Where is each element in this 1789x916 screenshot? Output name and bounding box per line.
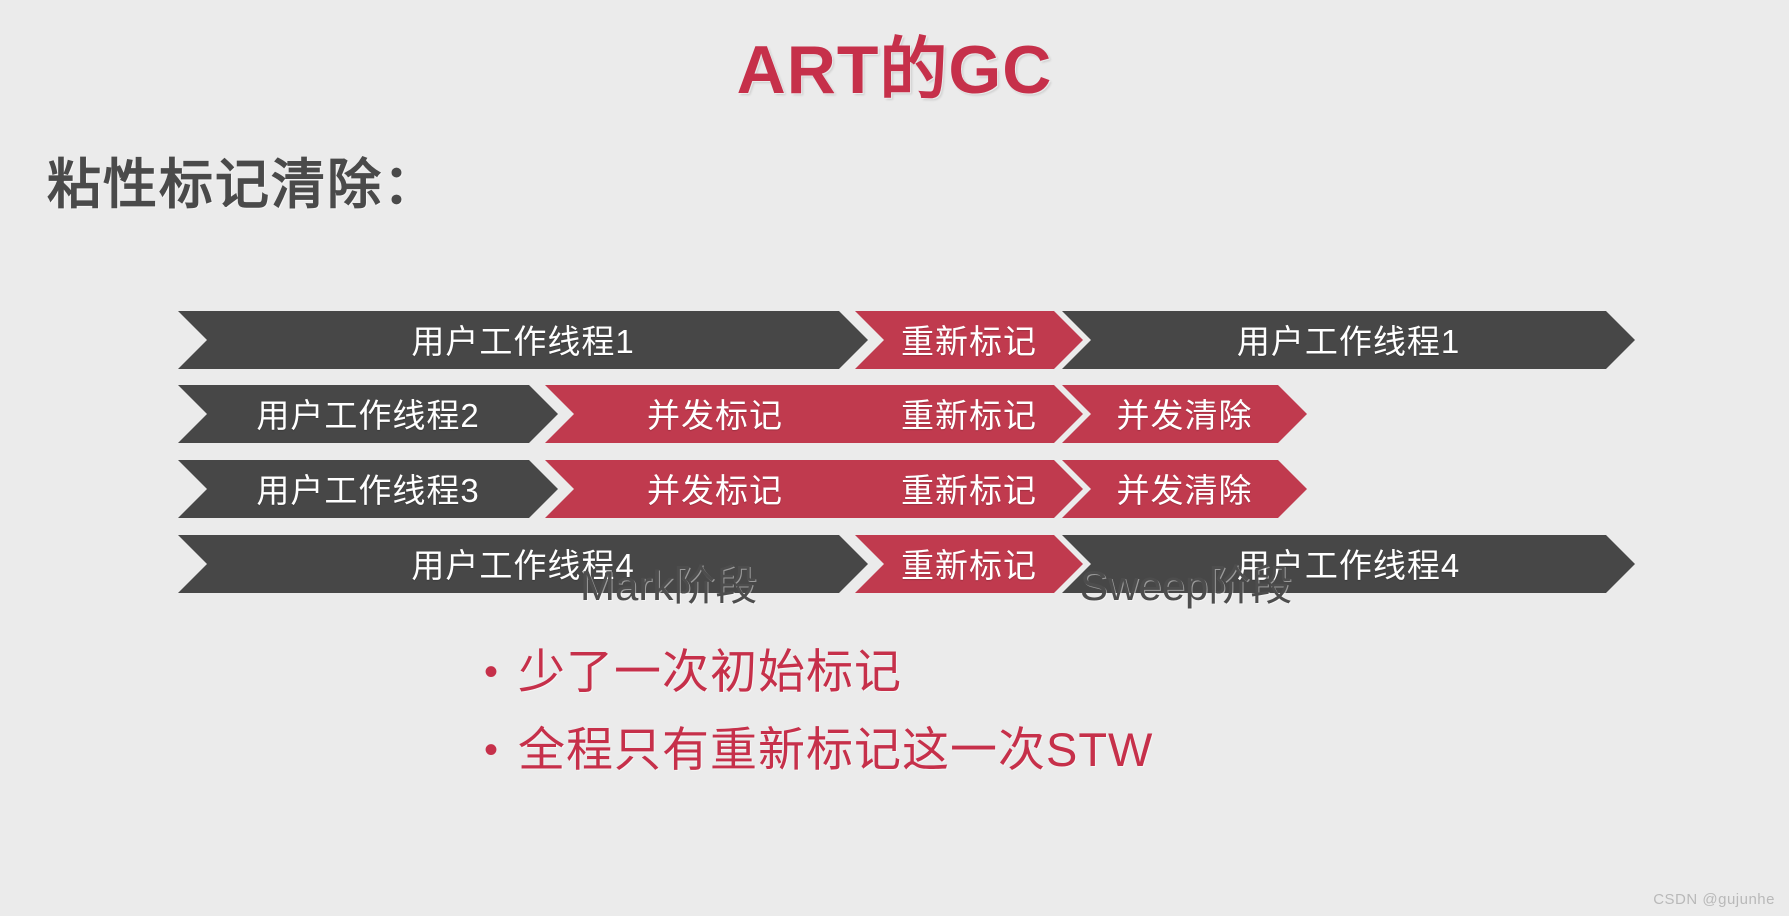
chevron-label: 用户工作线程1 (411, 315, 634, 363)
bullet-item: •全程只有重新标记这一次STW (464, 722, 1564, 778)
slide-root: ART的GC 粘性标记清除： 用户工作线程1重新标记用户工作线程1用户工作线程2… (0, 0, 1789, 916)
chevron-segment: 用户工作线程3 (178, 460, 558, 518)
phase-label-mark: Mark阶段 (580, 552, 757, 613)
chevron-label: 用户工作线程1 (1237, 315, 1460, 363)
watermark: CSDN @gujunhe (1653, 891, 1775, 908)
chevron-segment: 用户工作线程1 (178, 311, 868, 369)
chevron-label: 并发标记 (647, 389, 783, 437)
chevron-label: 并发标记 (647, 464, 783, 512)
chevron-label: 用户工作线程3 (256, 464, 479, 512)
chevron-label: 并发清除 (1117, 464, 1253, 512)
page-title: ART的GC (0, 14, 1789, 113)
chevron-row-thread-3: 用户工作线程3并发标记重新标记并发清除 (0, 460, 1789, 518)
chevron-row-thread-4: 用户工作线程4重新标记用户工作线程4 (0, 535, 1789, 593)
chevron-label: 并发清除 (1117, 389, 1253, 437)
chevron-segment: 用户工作线程4 (178, 535, 868, 593)
chevron-segment: 并发标记 (545, 460, 885, 518)
chevron-row-thread-1: 用户工作线程1重新标记用户工作线程1 (0, 311, 1789, 369)
chevron-segment: 并发清除 (1062, 385, 1307, 443)
bullet-text: 全程只有重新标记这一次STW (518, 722, 1153, 778)
bullet-item: •少了一次初始标记 (464, 644, 1564, 700)
chevron-row-thread-2: 用户工作线程2并发标记重新标记并发清除 (0, 385, 1789, 443)
bullet-dot-icon: • (464, 644, 518, 700)
chevron-label: 重新标记 (901, 315, 1037, 363)
chevron-segment: 重新标记 (855, 385, 1083, 443)
bullet-text: 少了一次初始标记 (518, 644, 902, 700)
chevron-label: 用户工作线程2 (256, 389, 479, 437)
chevron-segment: 用户工作线程1 (1062, 311, 1635, 369)
bullet-list: •少了一次初始标记•全程只有重新标记这一次STW (464, 644, 1564, 800)
phase-label-sweep: Sweep阶段 (1080, 552, 1292, 613)
chevron-label: 重新标记 (901, 464, 1037, 512)
gc-timeline-diagram: 用户工作线程1重新标记用户工作线程1用户工作线程2并发标记重新标记并发清除用户工… (0, 311, 1789, 571)
chevron-segment: 用户工作线程2 (178, 385, 558, 443)
section-heading: 粘性标记清除： (47, 140, 439, 219)
chevron-segment: 并发清除 (1062, 460, 1307, 518)
bullet-dot-icon: • (464, 722, 518, 778)
chevron-segment: 重新标记 (855, 460, 1083, 518)
chevron-segment: 并发标记 (545, 385, 885, 443)
chevron-label: 重新标记 (901, 539, 1037, 587)
chevron-segment: 重新标记 (855, 311, 1083, 369)
chevron-label: 重新标记 (901, 389, 1037, 437)
chevron-segment: 重新标记 (855, 535, 1083, 593)
